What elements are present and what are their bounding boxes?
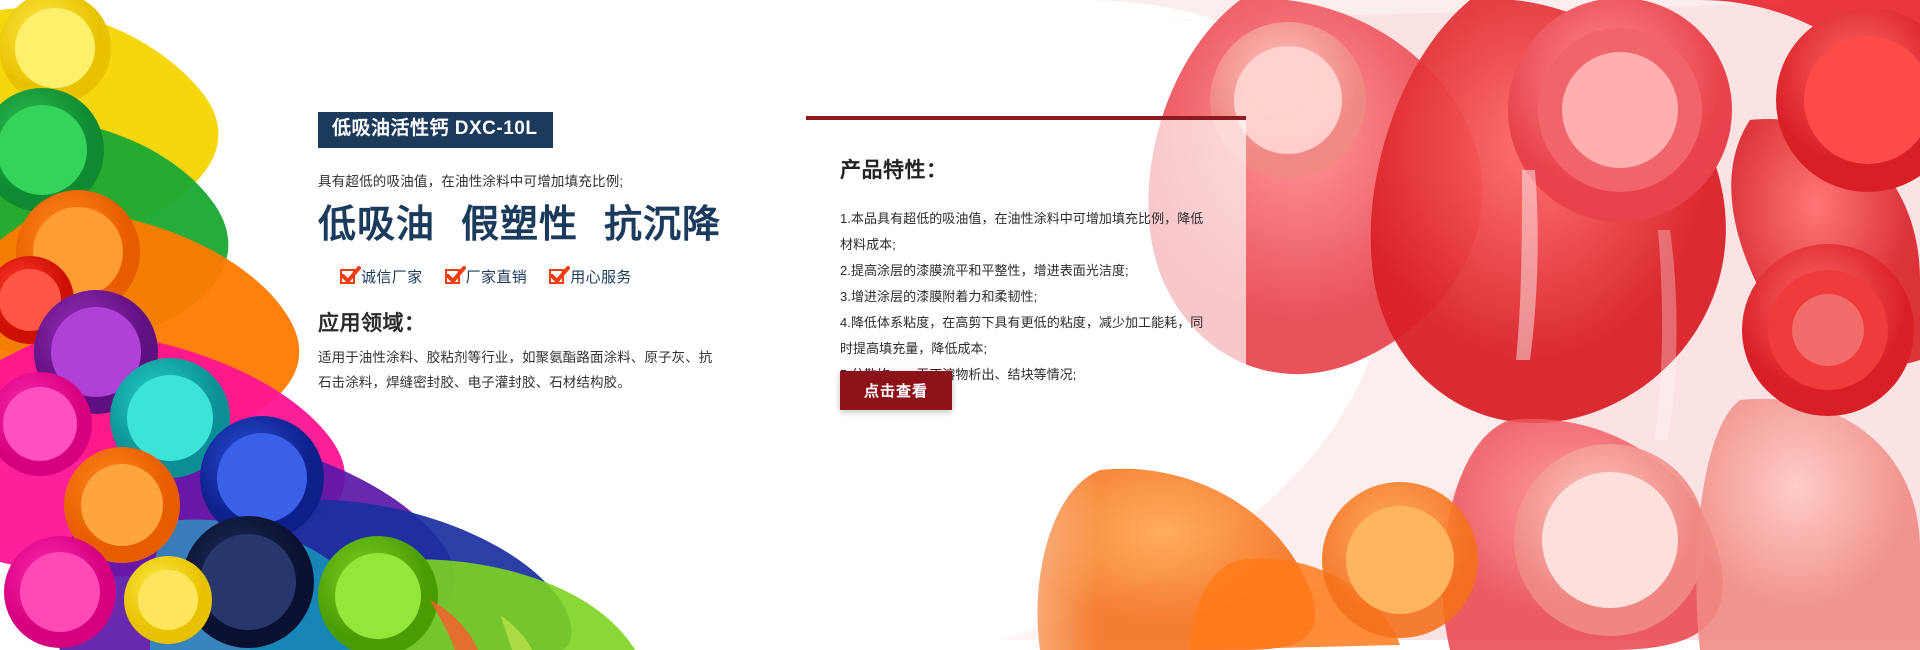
- feature-item: 3.增进涂层的漆膜附着力和柔韧性;: [840, 284, 1216, 310]
- application-text: 适用于油性涂料、胶粘剂等行业，如聚氨酯路面涂料、原子灰、抗石击涂料，焊缝密封胶、…: [318, 346, 720, 396]
- trust-item-1: 诚信厂家: [340, 266, 423, 287]
- headline-keywords: 低吸油假塑性抗沉降: [318, 204, 738, 248]
- feature-item: 2.提高涂层的漆膜流平和平整性，增进表面光洁度;: [840, 258, 1216, 284]
- features-panel-inner: 产品特性： 1.本品具有超低的吸油值，在油性涂料中可增加填充比例，降低材料成本;…: [806, 120, 1246, 388]
- checkmark-icon: [549, 269, 564, 284]
- trust-check-row: 诚信厂家 厂家直销 用心服务: [340, 266, 738, 287]
- trust-item-2: 厂家直销: [445, 266, 528, 287]
- product-banner: 低吸油活性钙 DXC-10L 具有超低的吸油值，在油性涂料中可增加填充比例; 低…: [0, 0, 1920, 650]
- banner-content: 低吸油活性钙 DXC-10L 具有超低的吸油值，在油性涂料中可增加填充比例; 低…: [0, 0, 1920, 650]
- feature-item: 1.本品具有超低的吸油值，在油性涂料中可增加填充比例，降低材料成本;: [840, 206, 1216, 258]
- view-details-button[interactable]: 点击查看: [840, 371, 952, 410]
- features-list: 1.本品具有超低的吸油值，在油性涂料中可增加填充比例，降低材料成本; 2.提高涂…: [840, 206, 1216, 388]
- trust-item-label: 用心服务: [570, 266, 632, 287]
- trust-item-label: 诚信厂家: [361, 266, 423, 287]
- product-title-badge: 低吸油活性钙 DXC-10L: [318, 112, 553, 148]
- headline-word-1: 低吸油: [318, 204, 435, 246]
- application-heading: 应用领域：: [318, 307, 738, 337]
- headline-word-3: 抗沉降: [604, 204, 721, 246]
- product-subline: 具有超低的吸油值，在油性涂料中可增加填充比例;: [318, 170, 738, 190]
- left-text-column: 低吸油活性钙 DXC-10L 具有超低的吸油值，在油性涂料中可增加填充比例; 低…: [318, 112, 738, 396]
- product-features-panel: 产品特性： 1.本品具有超低的吸油值，在油性涂料中可增加填充比例，降低材料成本;…: [806, 116, 1246, 438]
- checkmark-icon: [340, 269, 355, 284]
- trust-item-label: 厂家直销: [466, 266, 528, 287]
- features-heading: 产品特性：: [840, 154, 1216, 184]
- headline-word-2: 假塑性: [461, 204, 578, 246]
- trust-item-3: 用心服务: [549, 266, 632, 287]
- checkmark-icon: [445, 269, 460, 284]
- feature-item: 4.降低体系粘度，在高剪下具有更低的粘度，减少加工能耗，同时提高填充量，降低成本…: [840, 310, 1216, 362]
